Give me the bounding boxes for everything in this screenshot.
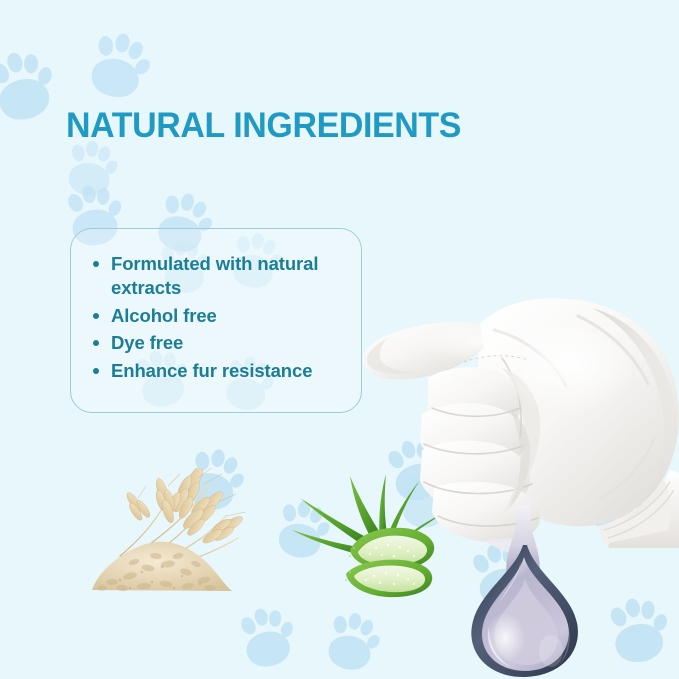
paw-print-icon — [227, 603, 301, 677]
paw-print-icon — [595, 593, 674, 672]
liquid-droplet-image — [455, 505, 605, 679]
gloved-hand-image — [352, 258, 679, 558]
list-item: Enhance fur resistance — [89, 359, 351, 383]
benefits-list: Formulated with natural extracts Alcohol… — [89, 252, 351, 386]
paw-print-icon — [0, 45, 63, 133]
list-item: Formulated with natural extracts — [89, 252, 351, 301]
paw-print-icon — [373, 433, 453, 513]
paw-print-icon — [73, 25, 158, 110]
paw-print-icon — [573, 465, 649, 541]
paw-print-icon — [54, 136, 122, 204]
paw-print-icon — [171, 441, 251, 521]
paw-print-icon — [263, 495, 335, 567]
benefits-box: Formulated with natural extracts Alcohol… — [70, 228, 362, 413]
aloe-vera-image — [288, 470, 448, 600]
page-title: NATURAL INGREDIENTS — [66, 108, 461, 145]
natural-ingredients-poster: NATURAL INGREDIENTS Formulated with natu… — [0, 0, 679, 679]
paw-print-icon — [388, 468, 456, 536]
list-item: Alcohol free — [89, 304, 351, 328]
paw-print-icon — [312, 606, 386, 679]
list-item: Dye free — [89, 331, 351, 355]
paw-print-icon — [458, 538, 539, 619]
oatmeal-and-wheat-image — [86, 468, 266, 600]
